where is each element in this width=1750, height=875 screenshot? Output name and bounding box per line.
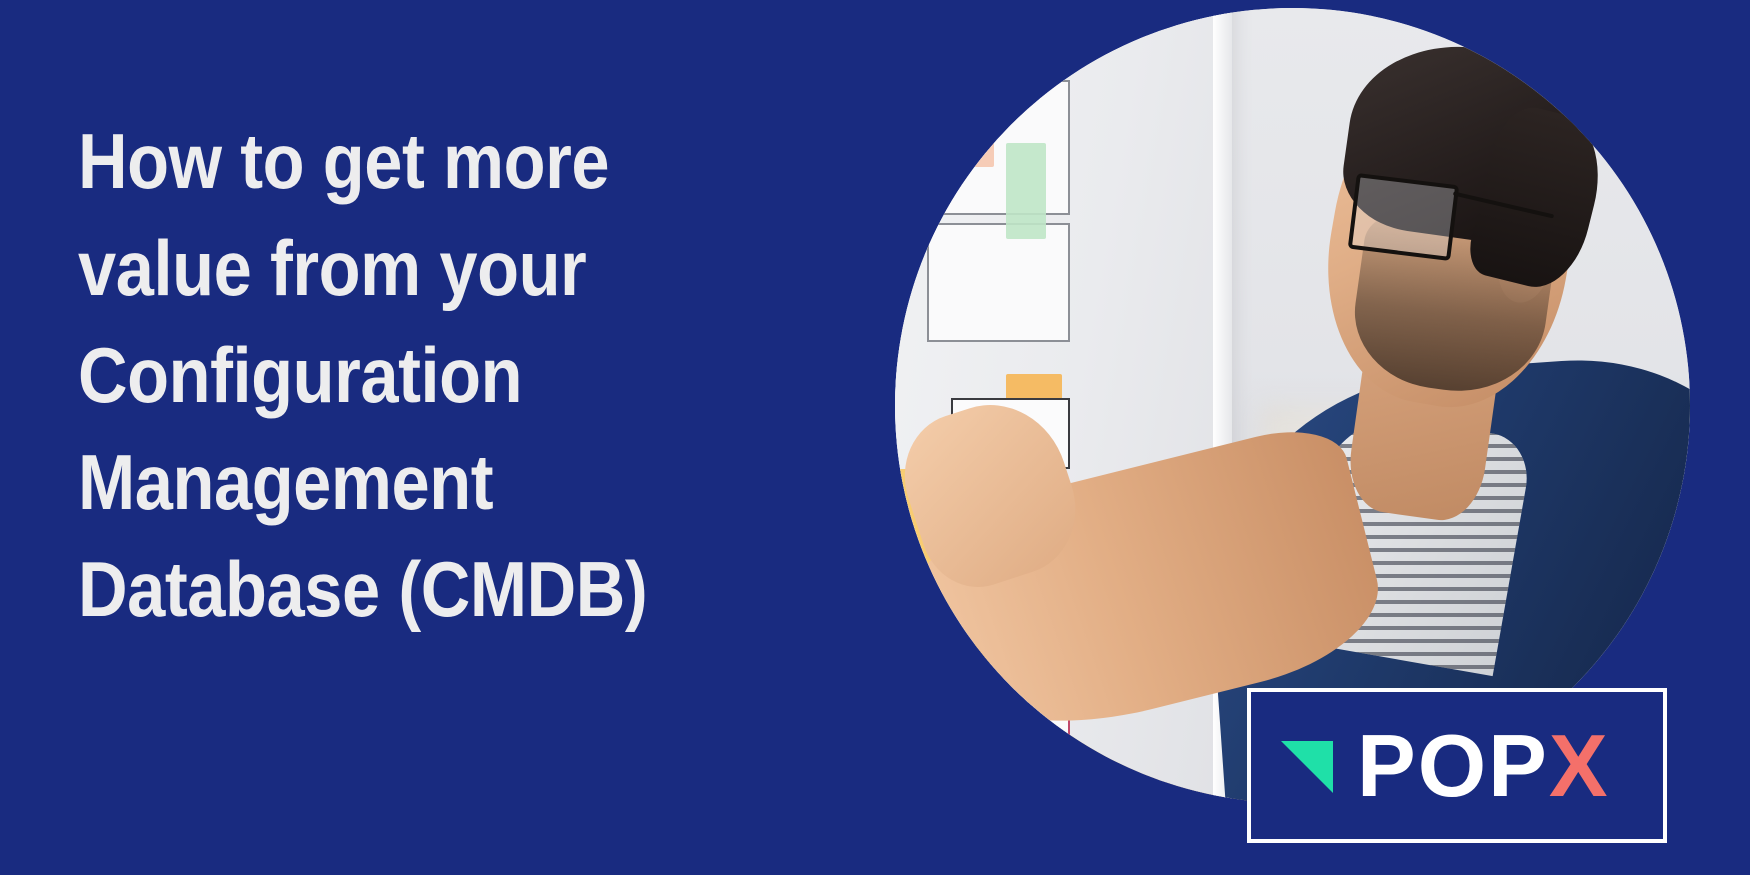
hero-photo-circle bbox=[895, 8, 1690, 803]
glasses-icon bbox=[1348, 173, 1460, 261]
popx-triangle-icon bbox=[1281, 741, 1333, 793]
popx-wordmark: POPX bbox=[1357, 722, 1610, 810]
photo-sticky-peach bbox=[955, 64, 995, 167]
logo-text-x: X bbox=[1549, 722, 1610, 810]
hero-photo bbox=[895, 8, 1690, 803]
photo-sticky-green bbox=[1006, 143, 1046, 238]
popx-logo[interactable]: POPX bbox=[1247, 688, 1667, 843]
logo-text-pop: POP bbox=[1357, 722, 1549, 810]
photo-note-card-2 bbox=[927, 223, 1070, 342]
page-title: How to get more value from your Configur… bbox=[78, 108, 747, 643]
banner-root: How to get more value from your Configur… bbox=[0, 0, 1750, 875]
